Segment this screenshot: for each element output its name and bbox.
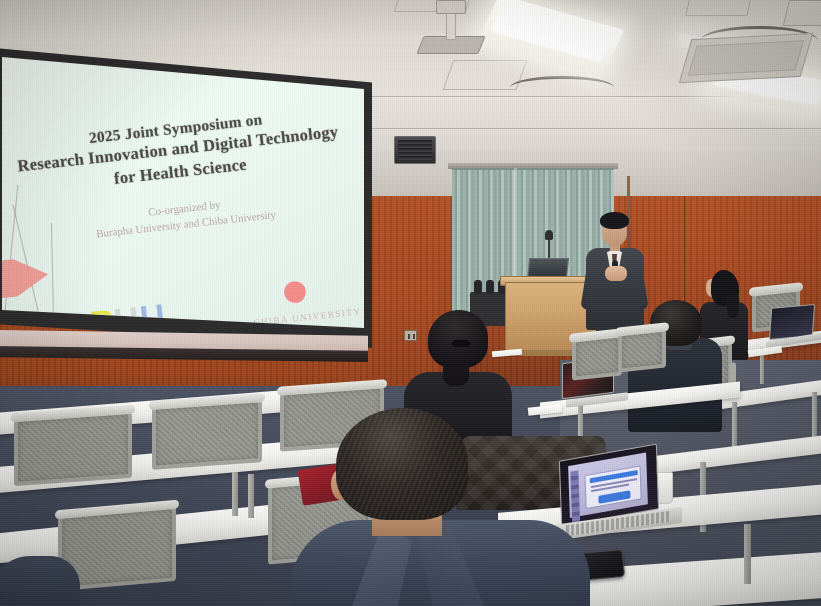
desk-leg bbox=[248, 474, 254, 518]
chiba-flower-icon bbox=[283, 280, 307, 304]
laptop-screen-sidebar bbox=[570, 470, 580, 523]
symposium-room-photograph: 2025 Joint Symposium on Research Innovat… bbox=[0, 0, 821, 606]
presenter-hair bbox=[600, 212, 629, 229]
ceiling-air-vent bbox=[783, 0, 821, 26]
attendee-right-ponytail bbox=[727, 292, 739, 318]
chair[interactable] bbox=[152, 398, 262, 470]
desk-leg bbox=[744, 524, 751, 584]
ceiling-projector bbox=[436, 0, 466, 14]
laptop-screen-content bbox=[568, 452, 648, 517]
presenter-hands bbox=[605, 266, 627, 281]
projection-screen: 2025 Joint Symposium on Research Innovat… bbox=[2, 57, 364, 335]
ceiling-air-vent bbox=[679, 33, 813, 83]
person-frame-edge-left bbox=[0, 556, 80, 606]
foreground-hair-texture bbox=[336, 408, 468, 520]
projected-slide: 2025 Joint Symposium on Research Innovat… bbox=[2, 57, 364, 335]
laptop-dialog-window[interactable] bbox=[585, 465, 642, 509]
dialog-primary-button[interactable] bbox=[598, 490, 630, 504]
chair[interactable] bbox=[14, 410, 132, 486]
desk-leg bbox=[232, 472, 238, 516]
attendee-centre-hair bbox=[428, 310, 488, 368]
wall-speaker bbox=[394, 136, 436, 164]
chair[interactable] bbox=[572, 333, 622, 380]
chair[interactable] bbox=[618, 327, 666, 372]
attendee-centre-hair-clip bbox=[452, 340, 470, 347]
power-outlet[interactable] bbox=[404, 330, 417, 341]
microphone-head bbox=[545, 230, 553, 240]
